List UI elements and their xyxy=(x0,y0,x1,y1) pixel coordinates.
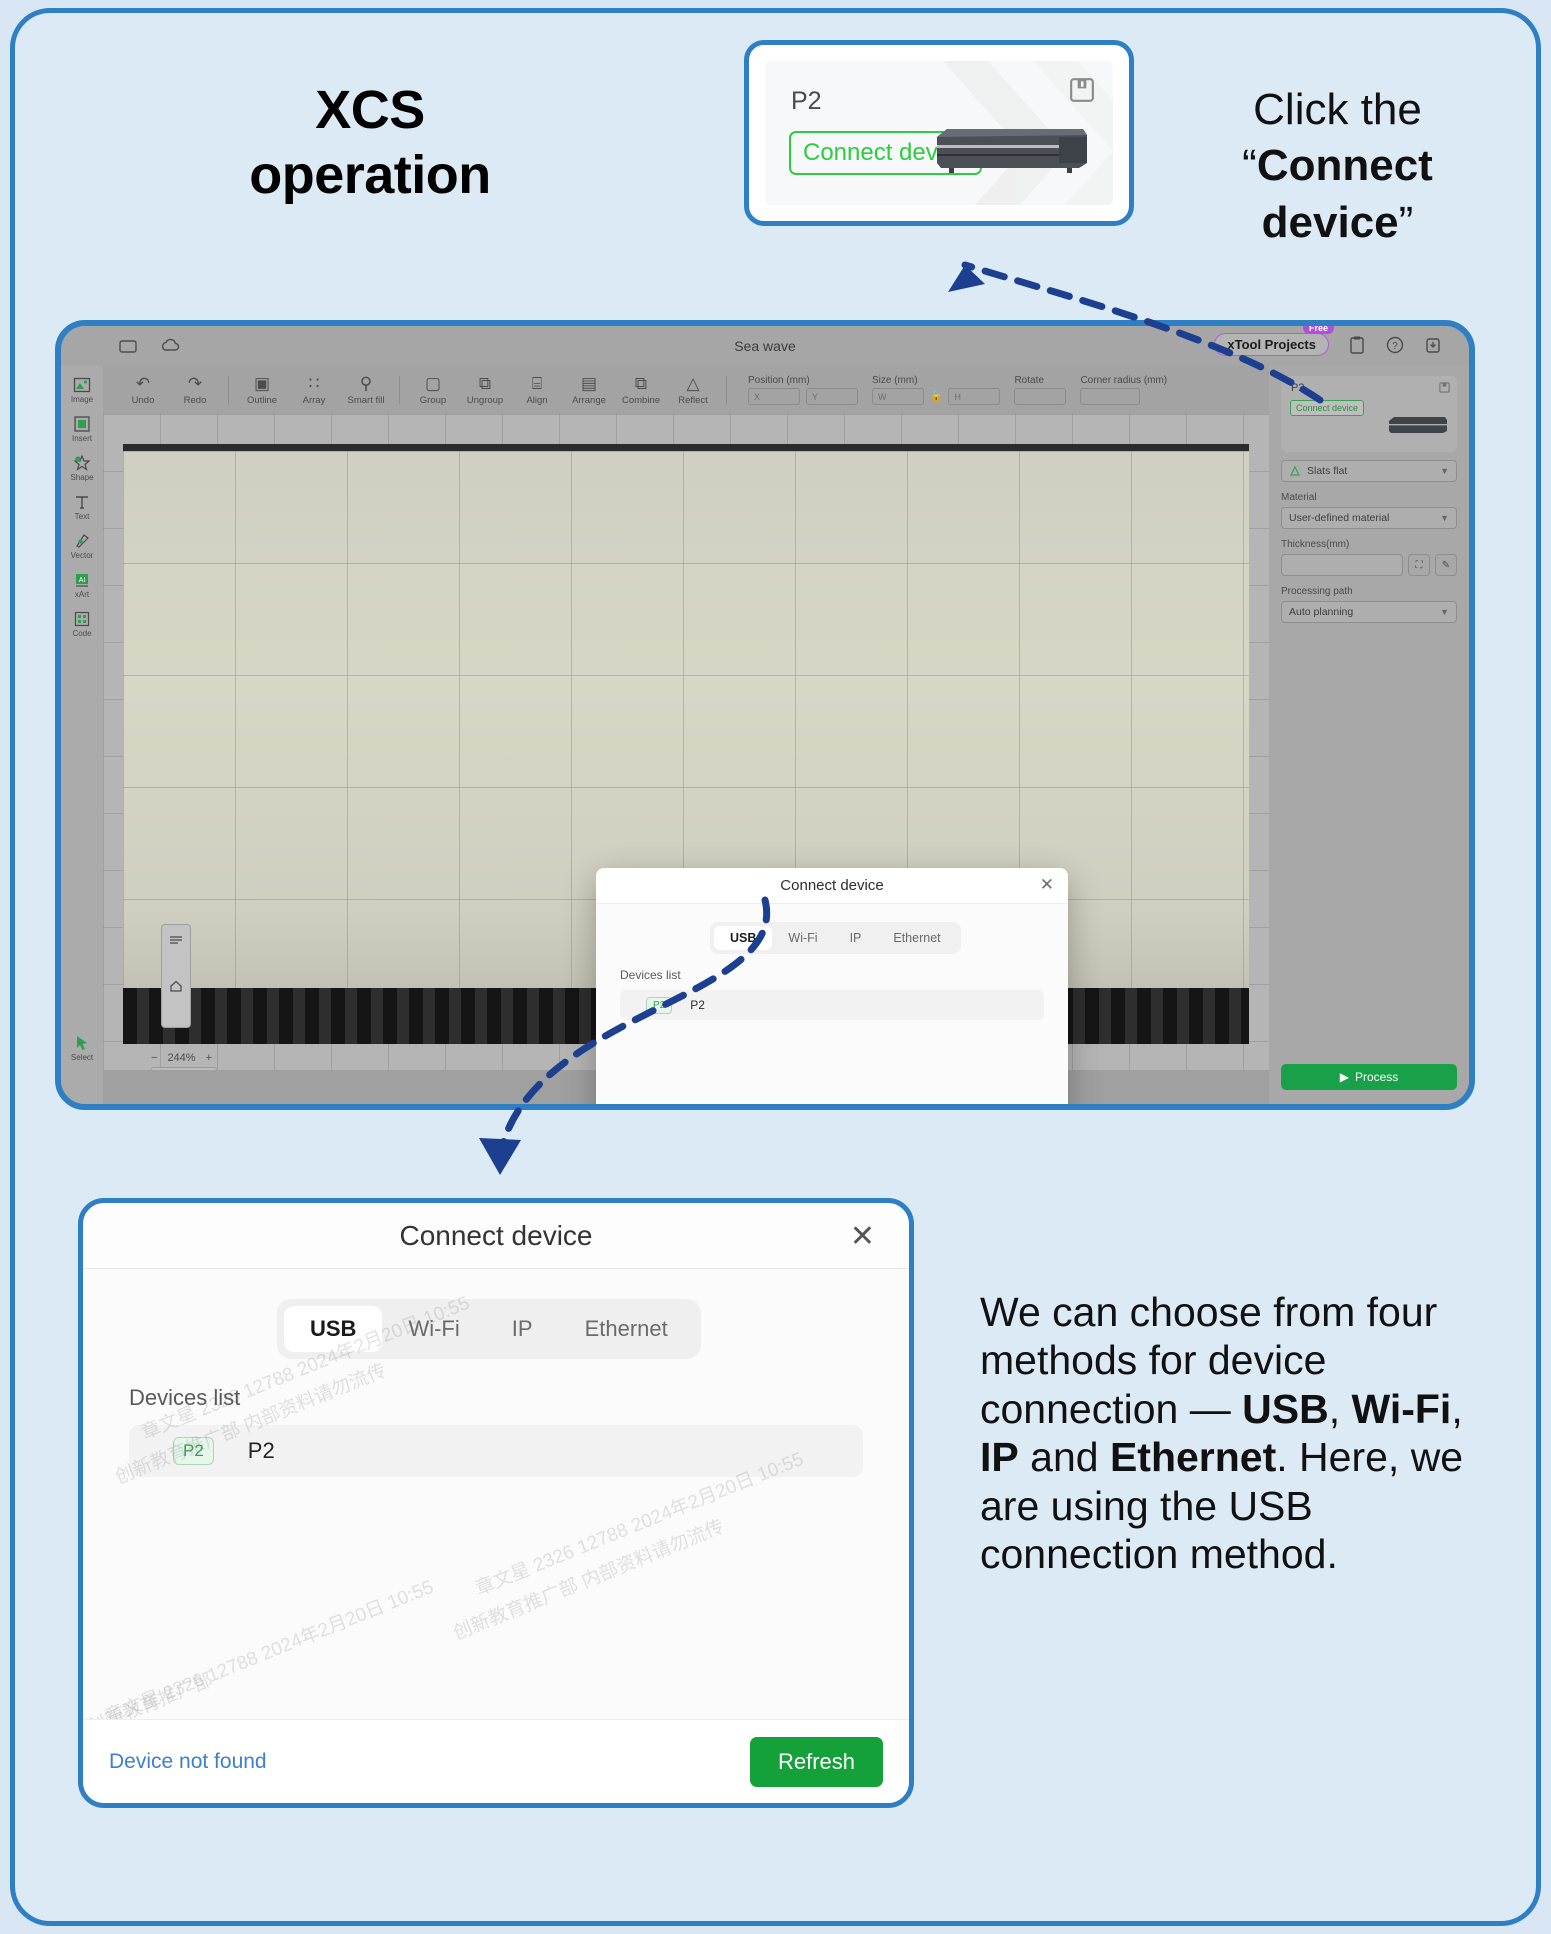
bottom-dialog-header: Connect device ✕ xyxy=(83,1203,909,1269)
help-icon[interactable]: ? xyxy=(1385,335,1405,355)
tab-ethernet[interactable]: Ethernet xyxy=(559,1306,694,1352)
tool-label: Arrange xyxy=(572,395,606,406)
qr-code-icon xyxy=(73,610,91,628)
sidebar-item-image[interactable]: Image xyxy=(62,376,102,404)
explain-bold-ip: IP xyxy=(980,1434,1019,1480)
bottom-callout-dialog: Connect device ✕ 章文星 2326 12788 2024年2月2… xyxy=(78,1198,914,1808)
explain-bold-ethernet: Ethernet xyxy=(1110,1434,1276,1480)
canvas-tab[interactable]: Sea wave xyxy=(151,1067,217,1070)
sidebar-label: Vector xyxy=(71,551,94,560)
play-icon: ▶ xyxy=(1340,1070,1349,1084)
top-callout-card: P2 Connect device xyxy=(744,40,1134,226)
svg-text:AI: AI xyxy=(79,577,86,584)
corner-radius-label: Corner radius (mm) xyxy=(1080,375,1167,386)
dialog-header: Connect device ✕ xyxy=(596,868,1068,904)
tool-label: Undo xyxy=(132,395,155,406)
laser-machine-image xyxy=(1387,414,1449,436)
reflect-icon: △ xyxy=(686,375,699,393)
explain-part3: , xyxy=(1451,1386,1462,1432)
tab-usb[interactable]: USB xyxy=(714,926,772,950)
tool-align[interactable]: ⌸Align xyxy=(511,375,563,406)
explanation-text: We can choose from four methods for devi… xyxy=(980,1288,1500,1578)
toolbar-divider xyxy=(228,376,229,404)
close-icon[interactable]: ✕ xyxy=(1040,876,1054,894)
tool-undo[interactable]: ↶Undo xyxy=(117,375,169,406)
position-x-input[interactable]: X xyxy=(748,388,800,405)
quote-close: ” xyxy=(1399,198,1414,247)
processing-path-label: Processing path xyxy=(1281,586,1457,597)
watermark: 创新教育推广部 内部资料请勿流传 xyxy=(449,1512,728,1646)
tool-reflect[interactable]: △Reflect xyxy=(667,375,719,406)
devices-list-label: Devices list xyxy=(620,968,1044,982)
size-group: Size (mm) W 🔓 H xyxy=(872,375,1000,405)
canvas-tab-bar: Sea wave + xyxy=(151,1067,231,1070)
sidebar-item-text[interactable]: Text xyxy=(62,493,102,521)
bottom-dialog-footer: Device not found Refresh xyxy=(83,1719,909,1803)
xart-ai-icon: AI xyxy=(73,571,91,589)
accessory-value: Slats flat xyxy=(1307,465,1347,477)
projects-label: xTool Projects xyxy=(1227,337,1316,352)
process-label: Process xyxy=(1355,1070,1398,1084)
device-list-name: P2 xyxy=(690,998,705,1012)
tool-smart-fill[interactable]: ⚲Smart fill xyxy=(340,375,392,406)
array-icon: ∷ xyxy=(309,375,320,393)
edit-pencil-icon[interactable]: ✎ xyxy=(1435,554,1457,576)
instruction-bold2: device xyxy=(1262,198,1399,247)
sidebar-label: Shape xyxy=(70,473,93,482)
process-button[interactable]: ▶ Process xyxy=(1281,1064,1457,1090)
laser-machine-image xyxy=(931,121,1091,175)
clipboard-icon[interactable] xyxy=(1347,335,1367,355)
sidebar-label: Select xyxy=(71,1053,93,1062)
size-w-input[interactable]: W xyxy=(872,388,924,405)
tool-label: Combine xyxy=(622,395,660,406)
app-toolbar: ↶Undo ↷Redo ▣Outline ∷Array ⚲Smart fill … xyxy=(103,366,1469,414)
device-list-item[interactable]: P2 P2 xyxy=(129,1425,863,1477)
app-left-sidebar: Image Insert Shape Text Vector AI xArt xyxy=(61,366,103,1104)
thickness-input[interactable] xyxy=(1281,554,1403,576)
device-chip: P2 xyxy=(173,1437,214,1465)
sidebar-item-vector[interactable]: Vector xyxy=(62,532,102,560)
sidebar-item-xart[interactable]: AI xArt xyxy=(62,571,102,599)
save-icon[interactable] xyxy=(1069,77,1095,103)
home-icon[interactable] xyxy=(169,979,183,993)
layers-panel[interactable] xyxy=(161,924,191,1028)
svg-text:?: ? xyxy=(1392,341,1398,352)
instruction-bold1: Connect xyxy=(1257,141,1433,190)
right-panel-device-card: P2 Connect device xyxy=(1281,376,1457,452)
sidebar-label: Image xyxy=(71,395,93,404)
tab-wifi[interactable]: Wi-Fi xyxy=(772,926,833,950)
device-status-card: P2 Connect device xyxy=(765,61,1113,205)
device-list-name: P2 xyxy=(248,1438,275,1464)
sidebar-label: Insert xyxy=(72,434,92,443)
toolbar-divider xyxy=(399,376,400,404)
device-list-item[interactable]: P2 P2 xyxy=(620,990,1044,1020)
slats-icon xyxy=(1289,465,1301,477)
tab-ip[interactable]: IP xyxy=(834,926,878,950)
shape-star-icon xyxy=(73,454,91,472)
sidebar-item-select[interactable]: Select xyxy=(61,1034,103,1062)
app-right-panel: P2 Connect device Slats flat ▼ Material … xyxy=(1269,366,1469,1104)
tool-combine[interactable]: ⧉Combine xyxy=(615,375,667,406)
tool-redo[interactable]: ↷Redo xyxy=(169,375,221,406)
rotate-group: Rotate xyxy=(1014,375,1066,405)
zoom-control[interactable]: − 244% + xyxy=(151,1052,212,1064)
title-line-2: operation xyxy=(170,143,570,208)
chevron-down-icon: ▼ xyxy=(1440,466,1449,476)
sidebar-item-shape[interactable]: Shape xyxy=(62,454,102,482)
tool-label: Ungroup xyxy=(467,395,503,406)
dialog-title: Connect device xyxy=(780,877,883,894)
explain-part2: , xyxy=(1329,1386,1352,1432)
thickness-row: ⛶ ✎ xyxy=(1281,554,1457,576)
rotate-label: Rotate xyxy=(1014,375,1066,386)
xcs-app-window: Sea wave xTool Projects Free ? ↶Undo ↷Re… xyxy=(55,320,1475,1110)
watermark: 章文星 2326 12788 2024年2月20日 10:55 xyxy=(101,1572,437,1729)
toolbar-divider xyxy=(726,376,727,404)
tool-ungroup[interactable]: ⧉Ungroup xyxy=(459,375,511,406)
vector-pen-icon xyxy=(73,532,91,550)
app-titlebar: Sea wave xTool Projects Free ? xyxy=(61,326,1469,366)
measure-icon[interactable]: ⛶ xyxy=(1408,554,1430,576)
sidebar-item-code[interactable]: Code xyxy=(62,610,102,638)
explain-bold-wifi: Wi-Fi xyxy=(1351,1386,1451,1432)
tool-label: Group xyxy=(420,395,446,406)
device-name: P2 xyxy=(1291,382,1304,394)
tool-label: Array xyxy=(303,395,326,406)
bottom-dialog-title: Connect device xyxy=(399,1220,592,1252)
position-y-input[interactable]: Y xyxy=(806,388,858,405)
device-chip: P2 xyxy=(646,997,672,1014)
tool-label: Smart fill xyxy=(348,395,385,406)
outline-icon: ▣ xyxy=(254,375,270,393)
size-label: Size (mm) xyxy=(872,375,1000,386)
tool-group[interactable]: ▢Group xyxy=(407,375,459,406)
zoom-in-button[interactable]: + xyxy=(206,1052,212,1064)
accessory-select[interactable]: Slats flat ▼ xyxy=(1281,460,1457,482)
rotate-input[interactable] xyxy=(1014,388,1066,405)
tab-wifi[interactable]: Wi-Fi xyxy=(382,1306,485,1352)
bottom-dialog-body: 章文星 2326 12788 2024年2月20日 10:55 创新教育推广部 … xyxy=(83,1269,909,1729)
zoom-level: 244% xyxy=(167,1052,195,1064)
connect-device-button-panel[interactable]: Connect device xyxy=(1290,400,1364,416)
undo-icon: ↶ xyxy=(136,375,150,393)
explain-bold-usb: USB xyxy=(1242,1386,1329,1432)
bottom-connection-tabs: USB Wi-Fi IP Ethernet xyxy=(277,1299,701,1359)
group-icon: ▢ xyxy=(425,375,441,393)
devices-list-label: Devices list xyxy=(129,1385,863,1411)
tool-outline[interactable]: ▣Outline xyxy=(236,375,288,406)
redo-icon: ↷ xyxy=(188,375,202,393)
text-icon xyxy=(73,493,91,511)
tool-arrange[interactable]: ▤Arrange xyxy=(563,375,615,406)
download-icon[interactable] xyxy=(1423,335,1443,355)
material-select[interactable]: User-defined material ▼ xyxy=(1281,507,1457,529)
smart-fill-icon: ⚲ xyxy=(360,375,372,393)
chevron-down-icon: ▼ xyxy=(1440,607,1449,617)
insert-icon xyxy=(73,415,91,433)
device-name: P2 xyxy=(791,87,822,116)
save-icon[interactable] xyxy=(1439,382,1450,393)
corner-radius-input[interactable] xyxy=(1080,388,1140,405)
page-title: XCS operation xyxy=(170,78,570,208)
tool-label: Redo xyxy=(184,395,207,406)
dialog-body: USB Wi-Fi IP Ethernet Devices list P2 P2 xyxy=(596,904,1068,1110)
quote-open: “ xyxy=(1242,141,1257,190)
image-icon xyxy=(73,376,91,394)
xtool-projects-button[interactable]: xTool Projects Free xyxy=(1214,333,1329,356)
tab-usb[interactable]: USB xyxy=(284,1306,382,1352)
layers-icon[interactable] xyxy=(169,933,183,947)
free-badge: Free xyxy=(1303,322,1334,334)
close-icon[interactable]: ✕ xyxy=(850,1223,875,1251)
material-label: Material xyxy=(1281,492,1457,503)
sidebar-label: Text xyxy=(75,512,90,521)
combine-icon: ⧉ xyxy=(635,375,647,393)
device-not-found-link[interactable]: Device not found xyxy=(109,1750,267,1774)
lock-icon[interactable]: 🔓 xyxy=(930,391,942,402)
corner-radius-group: Corner radius (mm) xyxy=(1080,375,1167,405)
add-tab-button[interactable]: + xyxy=(225,1070,231,1071)
refresh-button[interactable]: Refresh xyxy=(750,1737,883,1787)
position-group: Position (mm) X Y xyxy=(748,375,858,405)
explain-part4: and xyxy=(1019,1434,1110,1480)
align-icon: ⌸ xyxy=(532,375,542,393)
processing-path-select[interactable]: Auto planning ▼ xyxy=(1281,601,1457,623)
sidebar-label: Code xyxy=(72,629,91,638)
arrange-icon: ▤ xyxy=(581,375,597,393)
title-line-1: XCS xyxy=(170,78,570,143)
material-value: User-defined material xyxy=(1289,512,1389,524)
tab-ethernet[interactable]: Ethernet xyxy=(877,926,956,950)
connection-tabs: USB Wi-Fi IP Ethernet xyxy=(710,922,961,954)
ungroup-icon: ⧉ xyxy=(479,375,491,393)
size-h-input[interactable]: H xyxy=(948,388,1000,405)
tool-label: Align xyxy=(526,395,547,406)
tool-label: Reflect xyxy=(678,395,708,406)
connect-device-dialog: Connect device ✕ USB Wi-Fi IP Ethernet D… xyxy=(596,868,1068,1110)
thickness-label: Thickness(mm) xyxy=(1281,539,1457,550)
tab-ip[interactable]: IP xyxy=(486,1306,559,1352)
tool-array[interactable]: ∷Array xyxy=(288,375,340,406)
instruction-line1: Click the xyxy=(1253,85,1422,134)
chevron-down-icon: ▼ xyxy=(1440,513,1449,523)
processing-path-value: Auto planning xyxy=(1289,606,1353,618)
select-cursor-icon xyxy=(73,1034,91,1052)
tool-label: Outline xyxy=(247,395,277,406)
click-instruction-text: Click the “Connect device” xyxy=(1145,82,1530,251)
sidebar-label: xArt xyxy=(75,590,89,599)
zoom-out-button[interactable]: − xyxy=(151,1052,157,1064)
position-label: Position (mm) xyxy=(748,375,858,386)
sidebar-item-insert[interactable]: Insert xyxy=(62,415,102,443)
